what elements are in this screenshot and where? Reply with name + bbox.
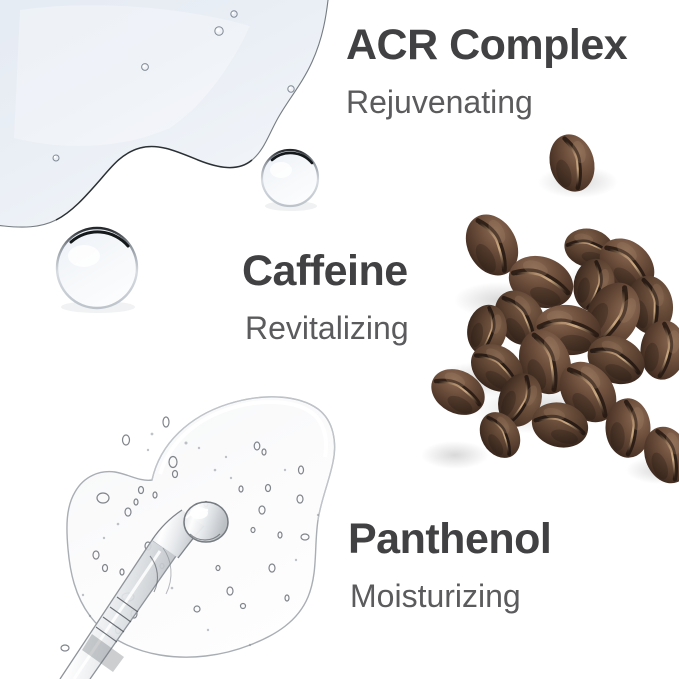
ingredient-benefit-panthenol: Moisturizing [350, 580, 551, 612]
product-ingredient-infographic: ACR Complex Rejuvenating Caffeine Revita… [0, 0, 679, 679]
serum-droplet-small [262, 150, 318, 211]
serum-droplet-large [57, 228, 137, 313]
ingredient-name-acr-complex: ACR Complex [346, 24, 627, 67]
ingredient-name-panthenol: Panthenol [348, 518, 551, 561]
ingredient-block-acr-complex: ACR Complex Rejuvenating [346, 24, 627, 118]
ingredient-benefit-caffeine: Revitalizing [245, 312, 409, 344]
ingredient-block-caffeine: Caffeine Revitalizing [242, 250, 409, 344]
ingredient-name-caffeine: Caffeine [242, 250, 409, 293]
ingredient-benefit-acr-complex: Rejuvenating [346, 86, 627, 118]
glass-pipette-dropper [60, 502, 228, 679]
ingredient-block-panthenol: Panthenol Moisturizing [348, 518, 551, 612]
